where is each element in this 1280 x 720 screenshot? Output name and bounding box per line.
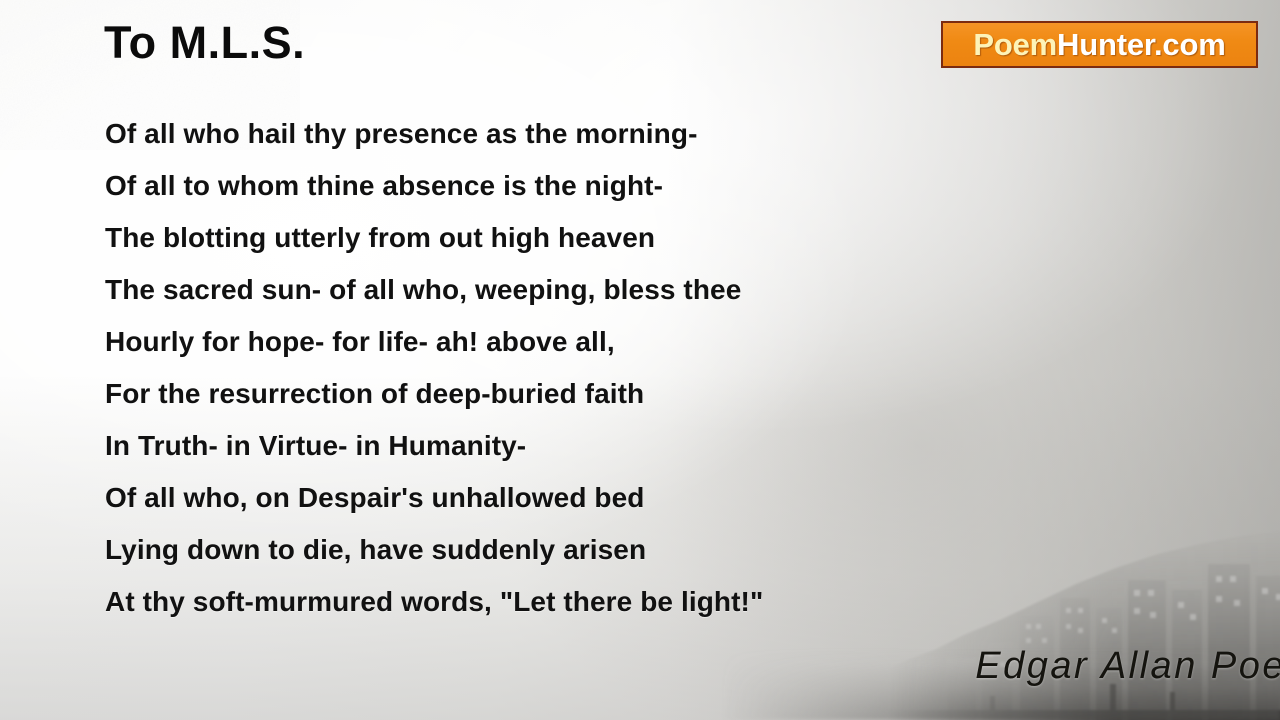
- author-credit: Edgar Allan Poe: [975, 645, 1280, 688]
- poem-line: Of all who hail thy presence as the morn…: [105, 108, 925, 160]
- poem-line: Of all who, on Despair's unhallowed bed: [105, 472, 925, 524]
- poem-line: The blotting utterly from out high heave…: [105, 212, 925, 264]
- poem-line: The sacred sun- of all who, weeping, ble…: [105, 264, 925, 316]
- poem-line: Hourly for hope- for life- ah! above all…: [105, 316, 925, 368]
- poem-line: Of all to whom thine absence is the nigh…: [105, 160, 925, 212]
- poem-line: For the resurrection of deep-buried fait…: [105, 368, 925, 420]
- poem-card: To M.L.S. Of all who hail thy presence a…: [0, 0, 1280, 720]
- poemhunter-logo-text: PoemHunter.com: [973, 29, 1225, 60]
- logo-word-hunter: Hunter.com: [1057, 27, 1226, 62]
- poem-line: In Truth- in Virtue- in Humanity-: [105, 420, 925, 472]
- cityscape-silhouette: [870, 524, 1280, 720]
- poemhunter-logo[interactable]: PoemHunter.com: [941, 21, 1258, 68]
- poem-text: Of all who hail thy presence as the morn…: [105, 108, 925, 628]
- poem-line: At thy soft-murmured words, "Let there b…: [105, 576, 925, 628]
- poem-line: Lying down to die, have suddenly arisen: [105, 524, 925, 576]
- logo-word-poem: Poem: [973, 27, 1057, 62]
- page-title: To M.L.S.: [104, 20, 305, 65]
